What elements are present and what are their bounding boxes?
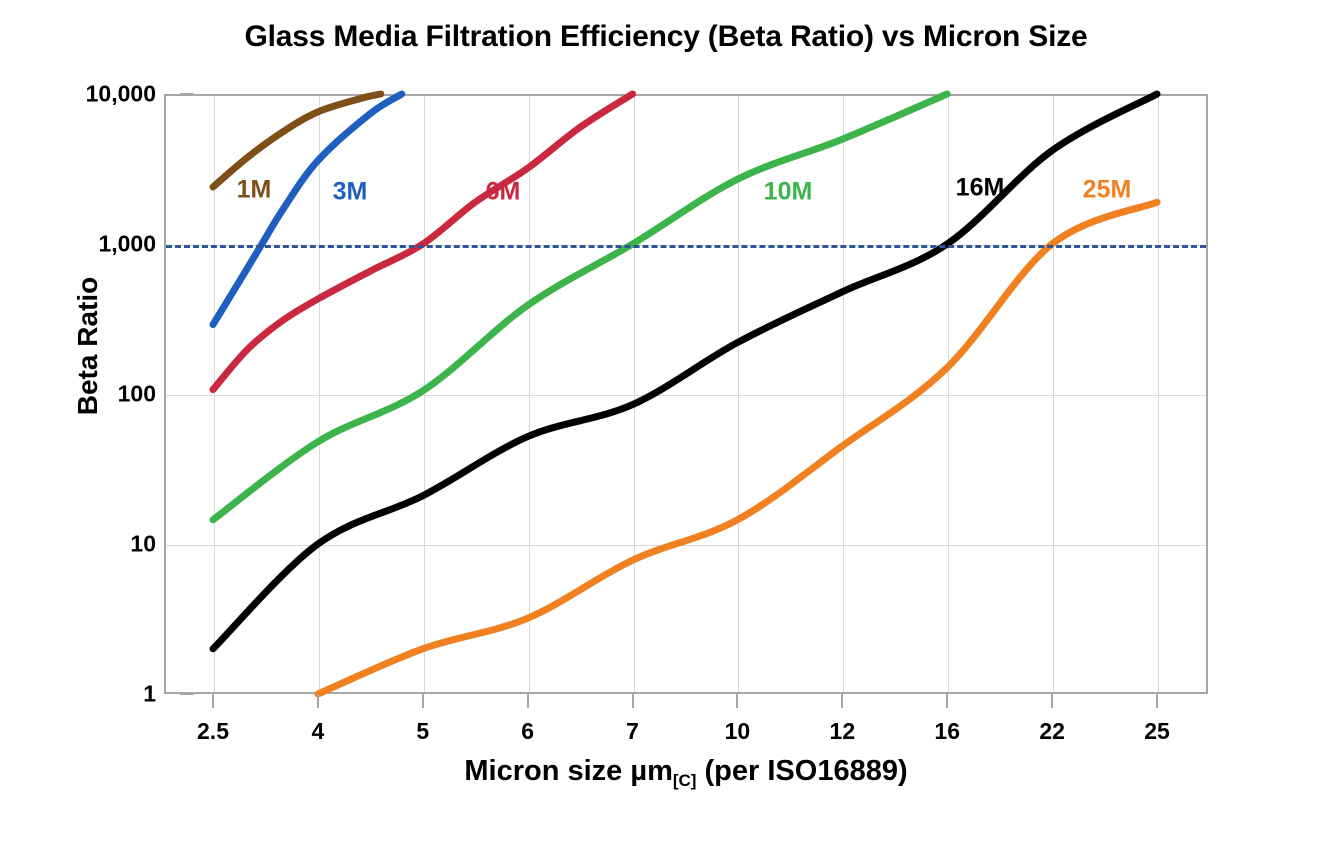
series-line-3M — [213, 94, 402, 325]
x-axis-tick-mark — [317, 694, 319, 708]
x-axis-tick-mark — [1156, 694, 1158, 708]
x-axis-title-prefix: Micron size µm — [464, 755, 672, 787]
series-line-25M — [318, 202, 1157, 694]
x-axis-tick-5: 5 — [416, 718, 429, 745]
x-axis-tick-12: 12 — [830, 718, 856, 745]
x-axis-tick-4: 4 — [311, 718, 324, 745]
y-axis-tick-1000: 1,000 — [98, 231, 156, 258]
x-axis-tick-mark — [422, 694, 424, 708]
y-axis-title: Beta Ratio — [72, 216, 104, 476]
x-axis-tick-mark — [212, 694, 214, 708]
series-label-6M: 6M — [486, 178, 521, 207]
series-label-25M: 25M — [1083, 176, 1132, 205]
y-axis-tick-10: 10 — [130, 531, 156, 558]
x-axis-tick-mark — [1051, 694, 1053, 708]
x-axis-tick-16: 16 — [934, 718, 960, 745]
x-axis-title-suffix: (per ISO16889) — [696, 755, 907, 787]
series-label-16M: 16M — [956, 174, 1005, 203]
series-line-1M — [213, 94, 381, 187]
beta-1000-threshold-line — [166, 245, 1206, 248]
series-label-3M: 3M — [333, 178, 368, 207]
y-axis-tick-100: 100 — [118, 381, 156, 408]
x-axis-tick-7: 7 — [626, 718, 639, 745]
x-axis-tick-22: 22 — [1039, 718, 1065, 745]
series-label-10M: 10M — [764, 178, 813, 207]
x-axis-tick-25: 25 — [1144, 718, 1170, 745]
x-axis-tick-10: 10 — [725, 718, 751, 745]
plot-area — [164, 94, 1208, 694]
chart-container: Glass Media Filtration Efficiency (Beta … — [0, 0, 1332, 842]
x-axis-tick-2-5: 2.5 — [197, 718, 229, 745]
x-axis-tick-6: 6 — [521, 718, 534, 745]
x-axis-tick-mark — [841, 694, 843, 708]
x-axis-tick-mark — [736, 694, 738, 708]
x-axis-tick-mark — [632, 694, 634, 708]
x-axis-tick-mark — [527, 694, 529, 708]
y-axis-tick-10000: 10,000 — [86, 81, 156, 108]
x-axis-title: Micron size µm[C] (per ISO16889) — [164, 755, 1208, 788]
series-label-1M: 1M — [237, 176, 272, 205]
y-axis-tick-1: 1 — [143, 681, 156, 708]
x-axis-title-subscript: [C] — [673, 771, 697, 790]
x-axis-tick-mark — [946, 694, 948, 708]
series-lines — [166, 96, 1206, 692]
page-title: Glass Media Filtration Efficiency (Beta … — [0, 20, 1332, 54]
